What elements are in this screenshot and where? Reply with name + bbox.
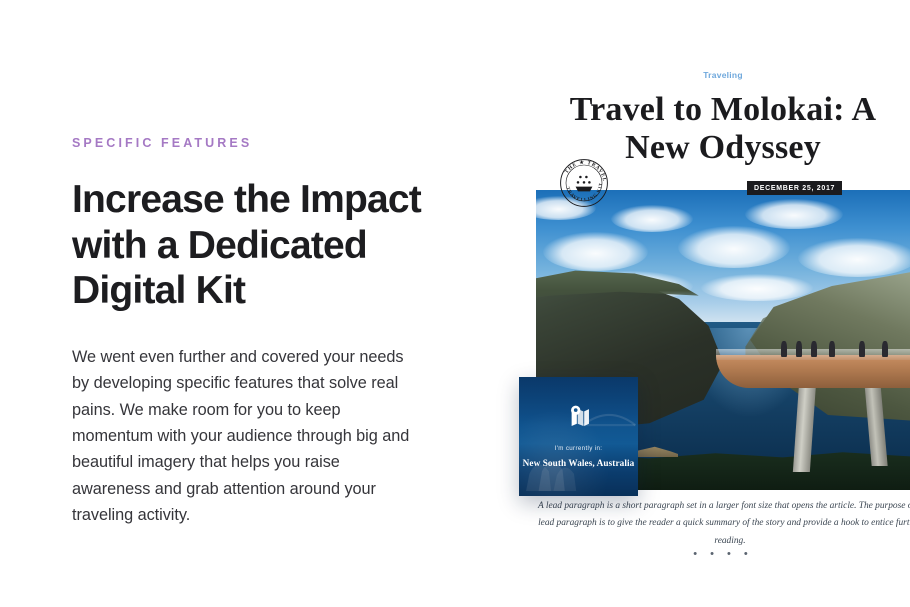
location-pretitle: I'm currently in: xyxy=(555,445,603,452)
cloud-icon xyxy=(543,232,648,271)
cloud-icon xyxy=(745,199,842,229)
cloud-icon xyxy=(611,205,693,232)
person-figure xyxy=(781,341,787,357)
article-preview: Traveling Travel to Molokai: A New Odyss… xyxy=(536,70,910,167)
article-category-label[interactable]: Traveling xyxy=(536,70,910,80)
map-pin-icon xyxy=(566,403,592,434)
location-name: New South Wales, Australia xyxy=(523,457,635,470)
current-location-card[interactable]: I'm currently in: New South Wales, Austr… xyxy=(519,377,638,496)
person-figure xyxy=(829,341,835,357)
cloud-icon xyxy=(678,226,790,268)
svg-text:THE ★ TRAVEL: THE ★ TRAVEL xyxy=(564,160,607,183)
lead-paragraph: A lead paragraph is a short paragraph se… xyxy=(536,498,910,550)
cloud-icon xyxy=(798,238,910,277)
location-card-content: I'm currently in: New South Wales, Austr… xyxy=(519,377,638,496)
person-figure xyxy=(811,341,817,357)
travel-stamp-logo: THE ★ TRAVEL TRAVELLING KIT xyxy=(554,153,614,213)
viewpoint-platform xyxy=(716,355,910,388)
eyebrow-label: SPECIFIC FEATURES xyxy=(72,136,442,151)
page-title: Increase the Impact with a Dedicated Dig… xyxy=(72,177,444,314)
person-figure xyxy=(882,341,888,357)
page-root: SPECIFIC FEATURES Increase the Impact wi… xyxy=(0,0,910,607)
cloud-icon xyxy=(701,274,813,301)
person-figure xyxy=(859,341,865,357)
feature-text-column: SPECIFIC FEATURES Increase the Impact wi… xyxy=(72,136,442,529)
body-paragraph: We went even further and covered your ne… xyxy=(72,344,417,529)
publish-date-badge: DECEMBER 25, 2017 xyxy=(747,181,842,195)
svg-text:TRAVELLING KIT: TRAVELLING KIT xyxy=(566,182,604,202)
divider-dots: • • • • xyxy=(536,548,910,560)
person-figure xyxy=(796,341,802,357)
